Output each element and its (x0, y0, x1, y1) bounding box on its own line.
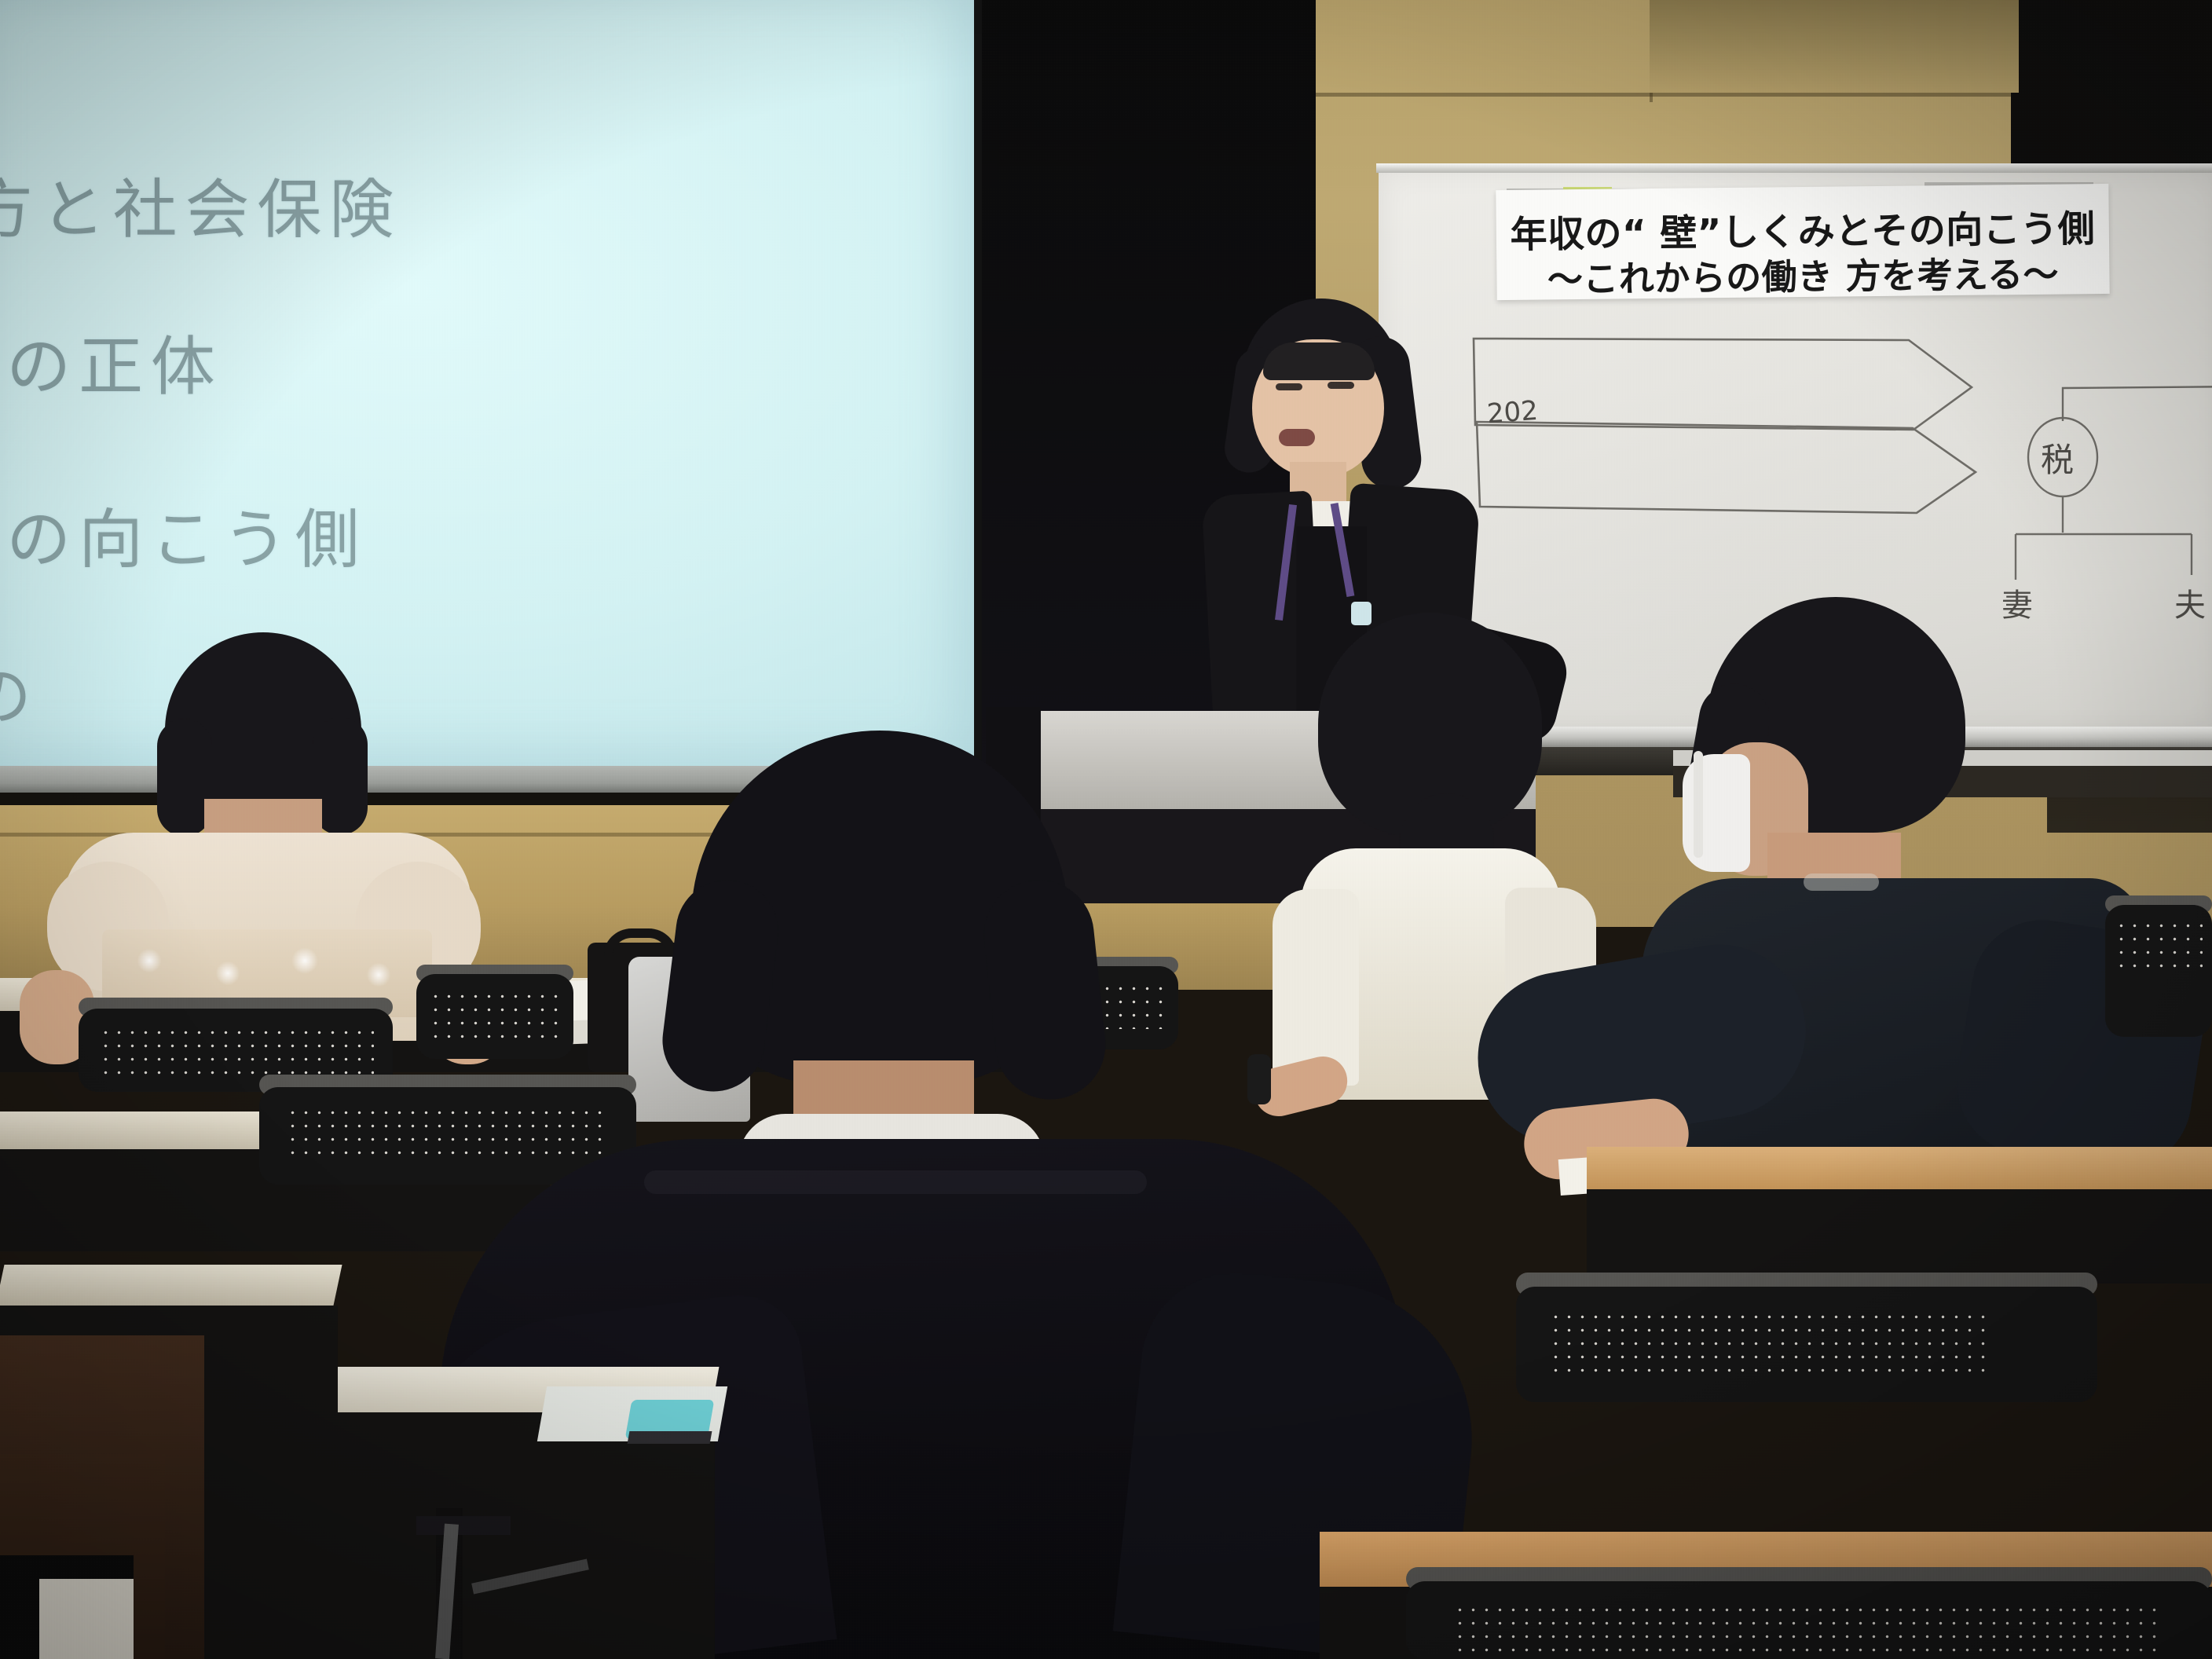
whiteboard-top-frame (1376, 163, 2212, 173)
desk-left-tier-top (0, 1265, 342, 1306)
smartphone-edge (628, 1431, 712, 1444)
wall-panel-top (1650, 0, 2019, 93)
paper-bottom-left (39, 1579, 134, 1659)
chair-far-right[interactable] (2105, 895, 2212, 1037)
seminar-room-photo: 方と社会保険 ” の正体 ” の向こう側 の 年収の“ 壁”しくみとその向こう側… (0, 0, 2212, 1659)
whiteboard-sign: 年収の“ 壁”しくみとその向こう側 ～これからの働き 方を考える～ (1496, 184, 2109, 300)
slide-line-3: ” の向こう側 (0, 487, 367, 580)
desk-row-mid-right-body (1587, 1189, 2212, 1284)
whiteboard-drawing-banner (1469, 334, 2050, 538)
desk-crossbar (416, 1516, 511, 1535)
chair-mid-right[interactable] (1516, 1273, 2097, 1402)
chair-front-right[interactable] (1406, 1567, 2212, 1659)
dark-header-right (2011, 0, 2212, 169)
desk-row-mid-right (1587, 1147, 2212, 1189)
slide-line-2: ” の正体 (0, 314, 223, 408)
whiteboard-node-tax: 税 (2041, 434, 2074, 482)
slide-line-1: 方と社会保険 (0, 157, 401, 251)
sign-line-2: ～これからの働き 方を考える～ (1496, 245, 2110, 302)
